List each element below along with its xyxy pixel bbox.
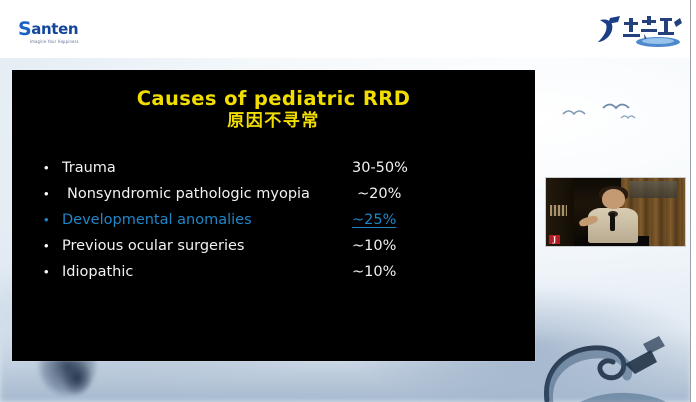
- list-item-value: ~10%: [352, 262, 396, 282]
- list-item-label[interactable]: Developmental anomalies: [62, 210, 352, 230]
- bullet-icon: •: [44, 236, 62, 256]
- bullet-icon: •: [44, 262, 62, 282]
- santen-wordmark: Santen: [18, 22, 128, 37]
- bullet-icon: •: [44, 184, 62, 204]
- list-item-label: Nonsyndromic pathologic myopia: [62, 184, 357, 204]
- ink-brush-dragon-artwork: [539, 292, 679, 402]
- slide-title: Causes of pediatric RRD: [12, 87, 535, 110]
- list-item-label: Trauma: [62, 158, 352, 178]
- santen-logo-s: S: [18, 18, 31, 40]
- list-item: • Previous ocular surgeries ~10%: [44, 236, 504, 260]
- list-item-value[interactable]: ~25%: [352, 210, 396, 230]
- right-edge-divider: [690, 0, 691, 402]
- bullet-icon: •: [44, 158, 62, 178]
- santen-logo-text: anten: [31, 20, 78, 38]
- page-header: Santen Imagine Your Happiness: [0, 0, 691, 58]
- list-item-label: Previous ocular surgeries: [62, 236, 352, 256]
- slide-title-block: Causes of pediatric RRD 原因不寻常: [12, 87, 535, 132]
- list-item: • Nonsyndromic pathologic myopia ~20%: [44, 184, 504, 208]
- list-item: • Trauma 30-50%: [44, 158, 504, 182]
- right-gutter: [691, 0, 696, 402]
- list-item-link[interactable]: • Developmental anomalies ~25%: [44, 210, 504, 234]
- causes-bullet-list: • Trauma 30-50% • Nonsyndromic pathologi…: [44, 158, 504, 288]
- video-projection-screen: [629, 181, 676, 199]
- list-item-value: 30-50%: [352, 158, 408, 178]
- speaker-head: [602, 189, 626, 209]
- santen-logo: Santen Imagine Your Happiness: [18, 22, 128, 50]
- ink-statue-silhouette-core: [56, 358, 98, 398]
- list-item-value: ~10%: [352, 236, 396, 256]
- birds-icon: [559, 102, 639, 128]
- presentation-slide[interactable]: Causes of pediatric RRD 原因不寻常 • Trauma 3…: [12, 70, 535, 361]
- slide-subtitle: 原因不寻常: [12, 111, 535, 132]
- chinese-calligraphy-brand-logo-icon: [596, 12, 688, 52]
- presentation-viewer: Santen Imagine Your Happiness: [0, 0, 696, 402]
- video-watermark: J: [549, 235, 560, 244]
- santen-tagline: Imagine Your Happiness: [30, 39, 128, 44]
- video-side-panel: [550, 205, 567, 216]
- list-item: • Idiopathic ~10%: [44, 262, 504, 286]
- list-item-label: Idiopathic: [62, 262, 352, 282]
- speaker-video-inset[interactable]: J: [545, 177, 686, 247]
- microphone-icon: [610, 213, 616, 231]
- list-item-value: ~20%: [357, 184, 401, 204]
- bullet-icon: •: [44, 210, 62, 230]
